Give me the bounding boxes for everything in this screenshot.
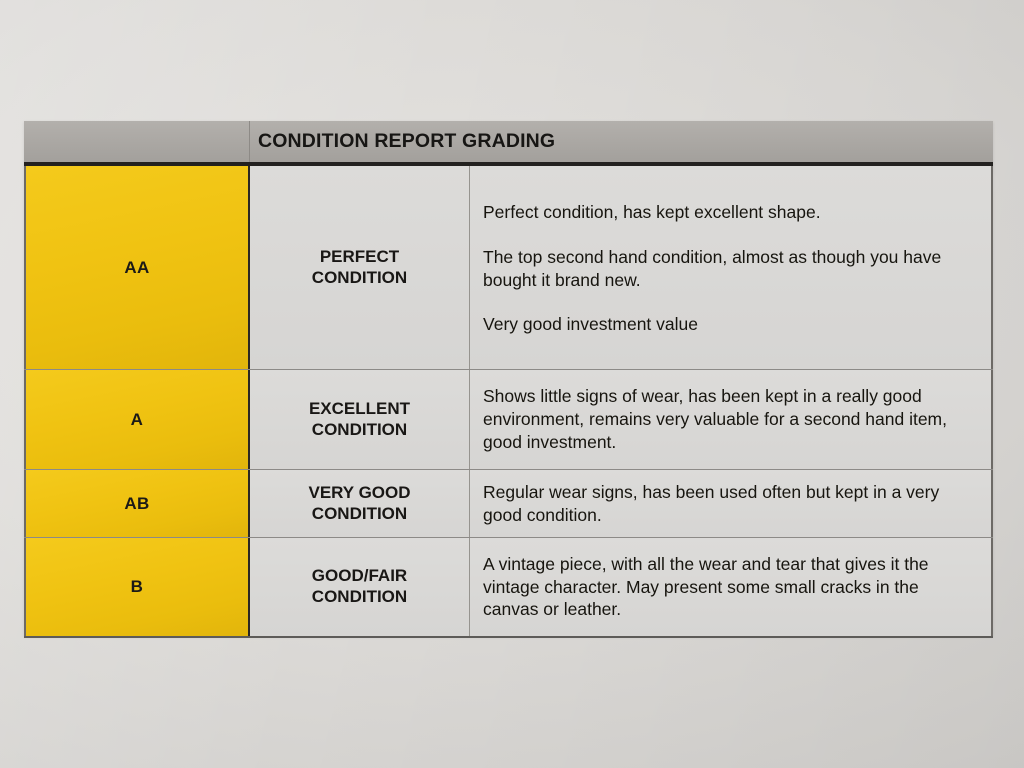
table-header: CONDITION REPORT GRADING	[24, 121, 993, 166]
grade-cell-b: B	[24, 538, 250, 636]
description-paragraph: The top second hand condition, almost as…	[483, 246, 977, 292]
table-row: B GOOD/FAIR CONDITION A vintage piece, w…	[24, 538, 993, 638]
condition-cell-aa: PERFECT CONDITION	[250, 166, 470, 369]
description-cell-ab: Regular wear signs, has been used often …	[470, 470, 993, 537]
condition-cell-ab: VERY GOOD CONDITION	[250, 470, 470, 537]
description-paragraph: Very good investment value	[483, 313, 977, 336]
grade-cell-a: A	[24, 370, 250, 469]
description-cell-a: Shows little signs of wear, has been kep…	[470, 370, 993, 469]
table-row: AB VERY GOOD CONDITION Regular wear sign…	[24, 470, 993, 538]
grade-cell-ab: AB	[24, 470, 250, 537]
condition-label-line2: CONDITION	[312, 420, 407, 441]
page-title: CONDITION REPORT GRADING	[250, 130, 555, 153]
condition-cell-b: GOOD/FAIR CONDITION	[250, 538, 470, 636]
condition-label-line1: PERFECT	[320, 247, 399, 268]
description-paragraph: Perfect condition, has kept excellent sh…	[483, 201, 977, 224]
condition-label-line1: GOOD/FAIR	[312, 566, 407, 587]
description-paragraph: Regular wear signs, has been used often …	[483, 481, 977, 527]
table-body: AA PERFECT CONDITION Perfect condition, …	[24, 166, 993, 638]
description-paragraph: Shows little signs of wear, has been kep…	[483, 385, 977, 453]
condition-cell-a: EXCELLENT CONDITION	[250, 370, 470, 469]
condition-label-line1: VERY GOOD	[308, 483, 410, 504]
description-cell-b: A vintage piece, with all the wear and t…	[470, 538, 993, 636]
condition-label-line1: EXCELLENT	[309, 399, 410, 420]
condition-report-grading-table: CONDITION REPORT GRADING AA PERFECT COND…	[24, 121, 993, 636]
condition-label-line2: CONDITION	[312, 587, 407, 608]
condition-label-line2: CONDITION	[312, 268, 407, 289]
description-paragraph: A vintage piece, with all the wear and t…	[483, 553, 977, 621]
description-cell-aa: Perfect condition, has kept excellent sh…	[470, 166, 993, 369]
table-header-spacer	[24, 121, 250, 162]
table-row: AA PERFECT CONDITION Perfect condition, …	[24, 166, 993, 370]
condition-label-line2: CONDITION	[312, 504, 407, 525]
table-row: A EXCELLENT CONDITION Shows little signs…	[24, 370, 993, 470]
grade-cell-aa: AA	[24, 166, 250, 369]
